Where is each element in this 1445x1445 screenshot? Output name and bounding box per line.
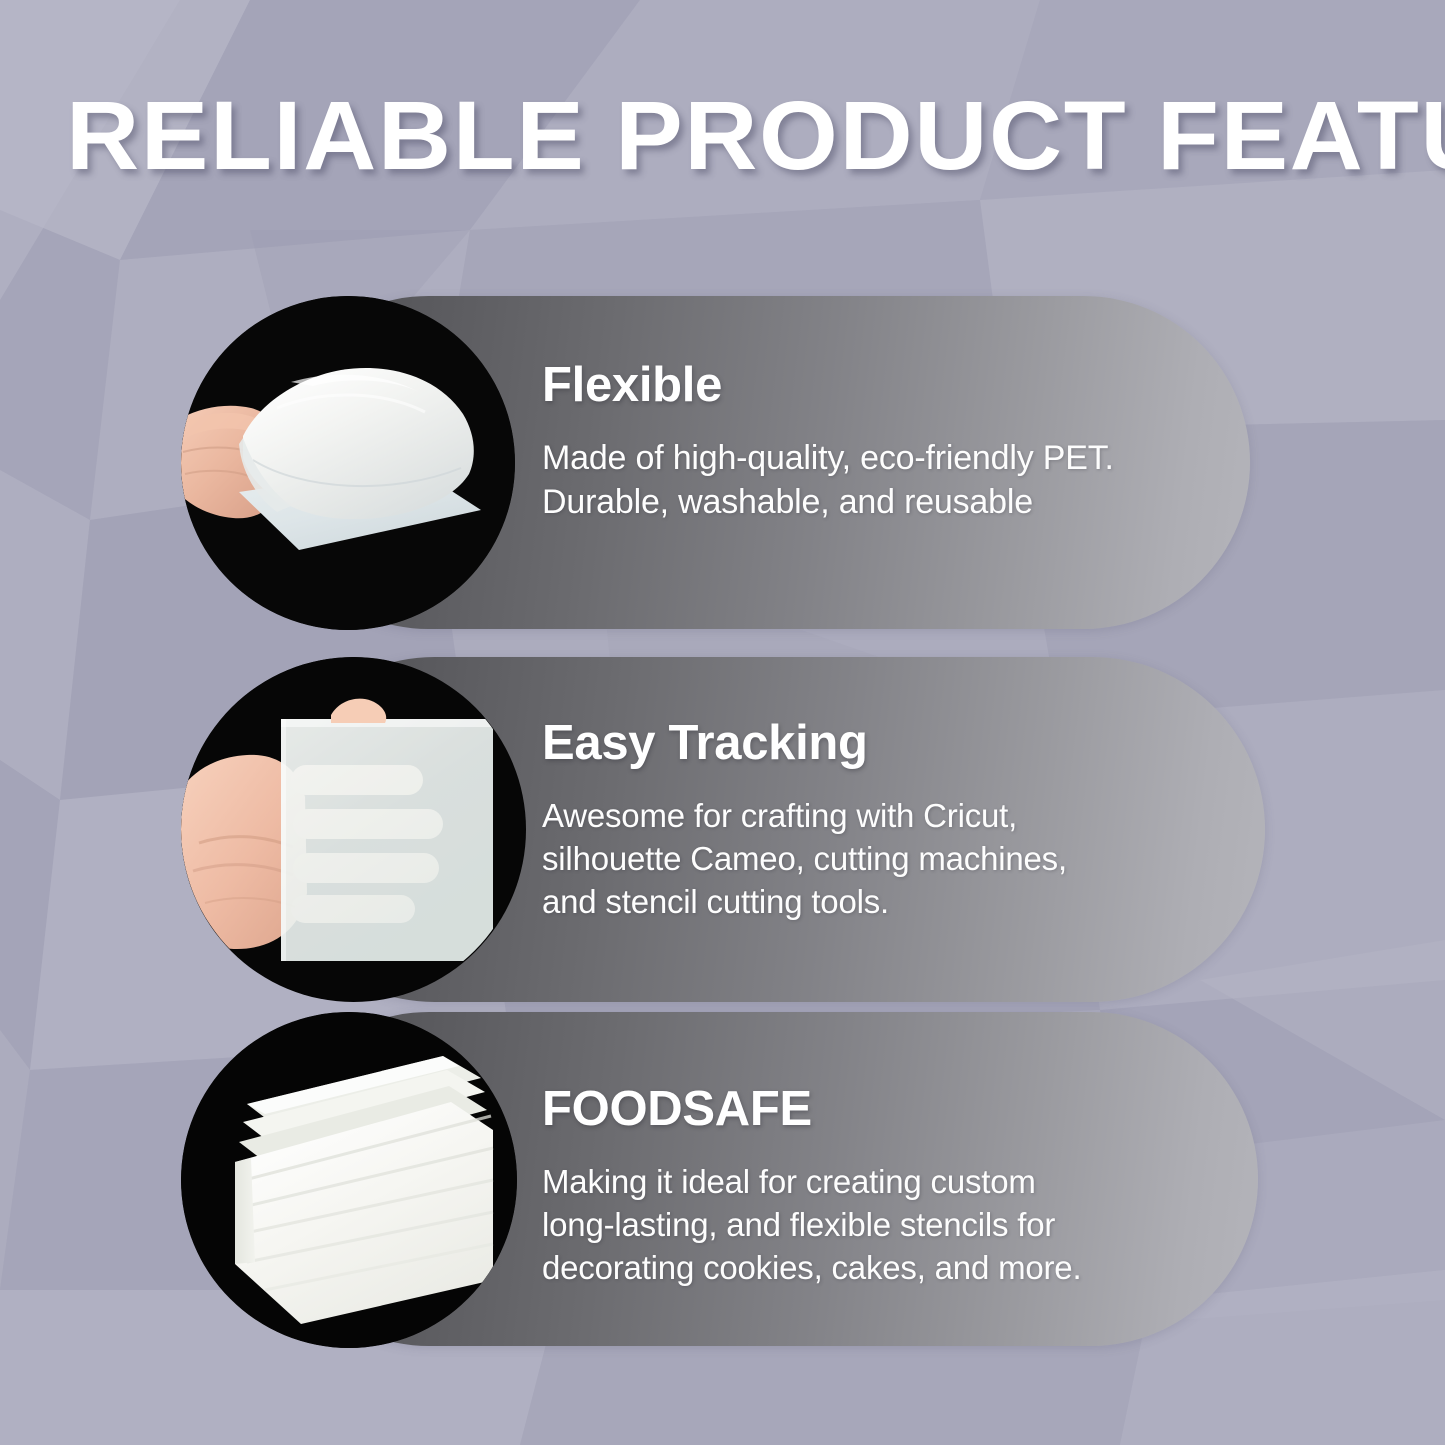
- feature-body: Awesome for crafting with Cricut, silhou…: [542, 794, 1202, 923]
- page-title: RELIABLE PRODUCT FEATURES: [66, 86, 1445, 186]
- feature-image-foodsafe: [181, 1012, 517, 1348]
- feature-body-line: silhouette Cameo, cutting machines,: [542, 837, 1202, 880]
- feature-text-flexible: Flexible Made of high-quality, eco-frien…: [542, 358, 1202, 524]
- feature-body-line: decorating cookies, cakes, and more.: [542, 1246, 1182, 1289]
- feature-heading: FOODSAFE: [542, 1082, 1182, 1137]
- feature-body: Making it ideal for creating custom long…: [542, 1160, 1182, 1289]
- feature-heading: Flexible: [542, 358, 1202, 413]
- feature-body-line: Making it ideal for creating custom: [542, 1160, 1182, 1203]
- feature-body: Made of high-quality, eco-friendly PET. …: [542, 436, 1202, 524]
- feature-image-flexible: [181, 296, 515, 630]
- feature-body-line: Durable, washable, and reusable: [542, 480, 1202, 524]
- feature-text-foodsafe: FOODSAFE Making it ideal for creating cu…: [542, 1082, 1182, 1289]
- feature-body-line: Awesome for crafting with Cricut,: [542, 794, 1202, 837]
- feature-image-easy-tracking: [181, 657, 526, 1002]
- infographic-root: RELIABLE PRODUCT FEATURES: [0, 0, 1445, 1445]
- feature-body-line: Made of high-quality, eco-friendly PET.: [542, 436, 1202, 480]
- feature-text-easy-tracking: Easy Tracking Awesome for crafting with …: [542, 716, 1202, 923]
- feature-heading: Easy Tracking: [542, 716, 1202, 771]
- feature-body-line: and stencil cutting tools.: [542, 880, 1202, 923]
- feature-body-line: long-lasting, and flexible stencils for: [542, 1203, 1182, 1246]
